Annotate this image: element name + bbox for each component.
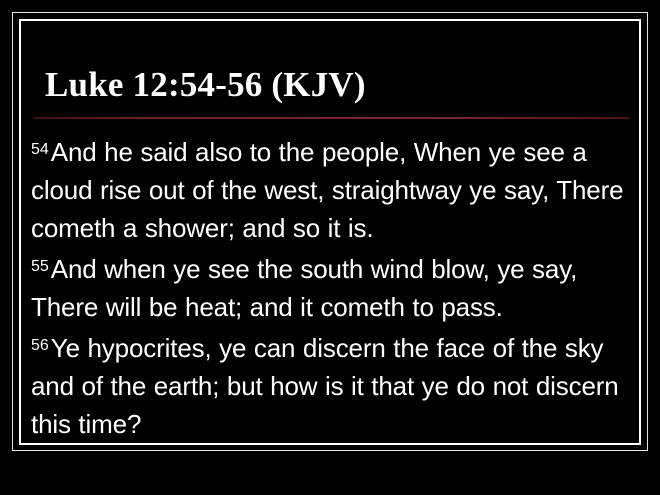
title-divider [33, 117, 629, 119]
scripture-body: 54And he said also to the people, When y… [31, 131, 635, 443]
verse-text: And he said also to the people, When ye … [31, 137, 623, 243]
verse-paragraph: 54And he said also to the people, When y… [31, 131, 635, 247]
verse-number: 55 [31, 258, 51, 275]
verse-number: 56 [31, 337, 51, 354]
page-title: Luke 12:54-56 (KJV) [31, 19, 635, 106]
verse-text: Ye hypocrites, ye can discern the face o… [31, 333, 619, 439]
slide-content: Luke 12:54-56 (KJV) 54And he said also t… [31, 19, 635, 443]
verse-text: And when ye see the south wind blow, ye … [31, 254, 577, 322]
verse-paragraph: 55And when ye see the south wind blow, y… [31, 248, 635, 326]
verse-number: 54 [31, 141, 51, 158]
presentation-slide: Luke 12:54-56 (KJV) 54And he said also t… [0, 0, 660, 495]
verse-paragraph: 56Ye hypocrites, ye can discern the face… [31, 327, 635, 443]
